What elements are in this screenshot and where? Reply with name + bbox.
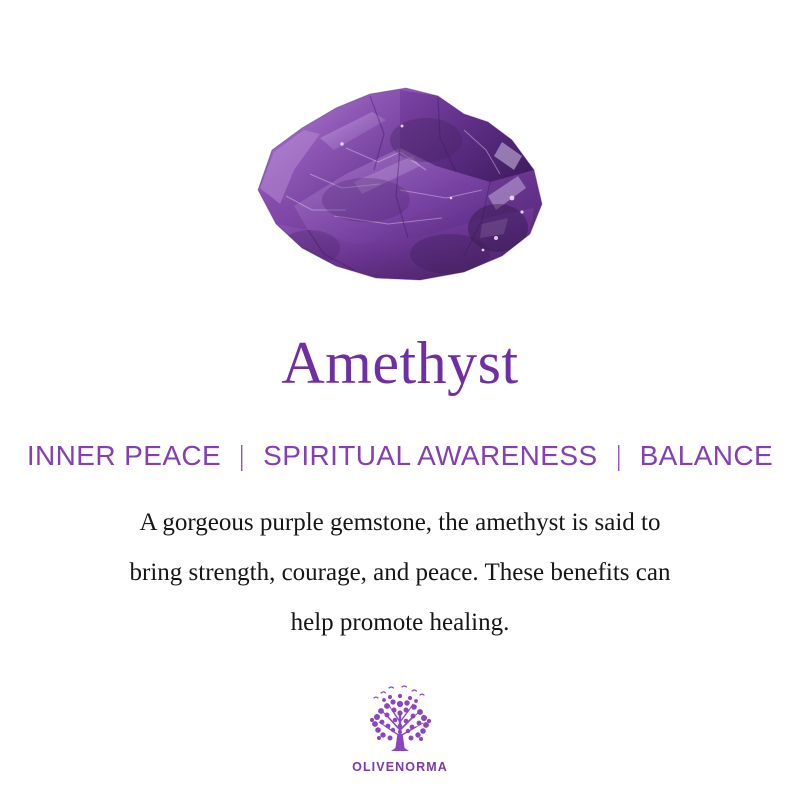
keyword-inner-peace: INNER PEACE (27, 440, 221, 472)
page-title: Amethyst (0, 332, 800, 395)
tree-trunk (391, 734, 409, 751)
olivenorma-tree-logo-icon (357, 682, 443, 758)
keyword-separator: | (611, 440, 625, 472)
description-line: bring strength, courage, and peace. Thes… (60, 548, 740, 598)
keyword-row: INNER PEACE | SPIRITUAL AWARENESS | BALA… (0, 440, 800, 472)
description-line: A gorgeous purple gemstone, the amethyst… (60, 498, 740, 548)
keyword-separator: | (235, 440, 249, 472)
amethyst-crystal-svg (250, 78, 550, 288)
keyword-balance: BALANCE (640, 440, 774, 472)
keyword-spiritual-awareness: SPIRITUAL AWARENESS (263, 440, 597, 472)
description-text: A gorgeous purple gemstone, the amethyst… (60, 498, 740, 648)
crystal-body (250, 78, 550, 288)
amethyst-info-card: Amethyst INNER PEACE | SPIRITUAL AWARENE… (0, 0, 800, 800)
amethyst-crystal-image (250, 78, 550, 288)
description-line: help promote healing. (60, 598, 740, 648)
brand-name: OLIVENORMA (352, 760, 448, 774)
brand-logo: OLIVENORMA (0, 682, 800, 774)
